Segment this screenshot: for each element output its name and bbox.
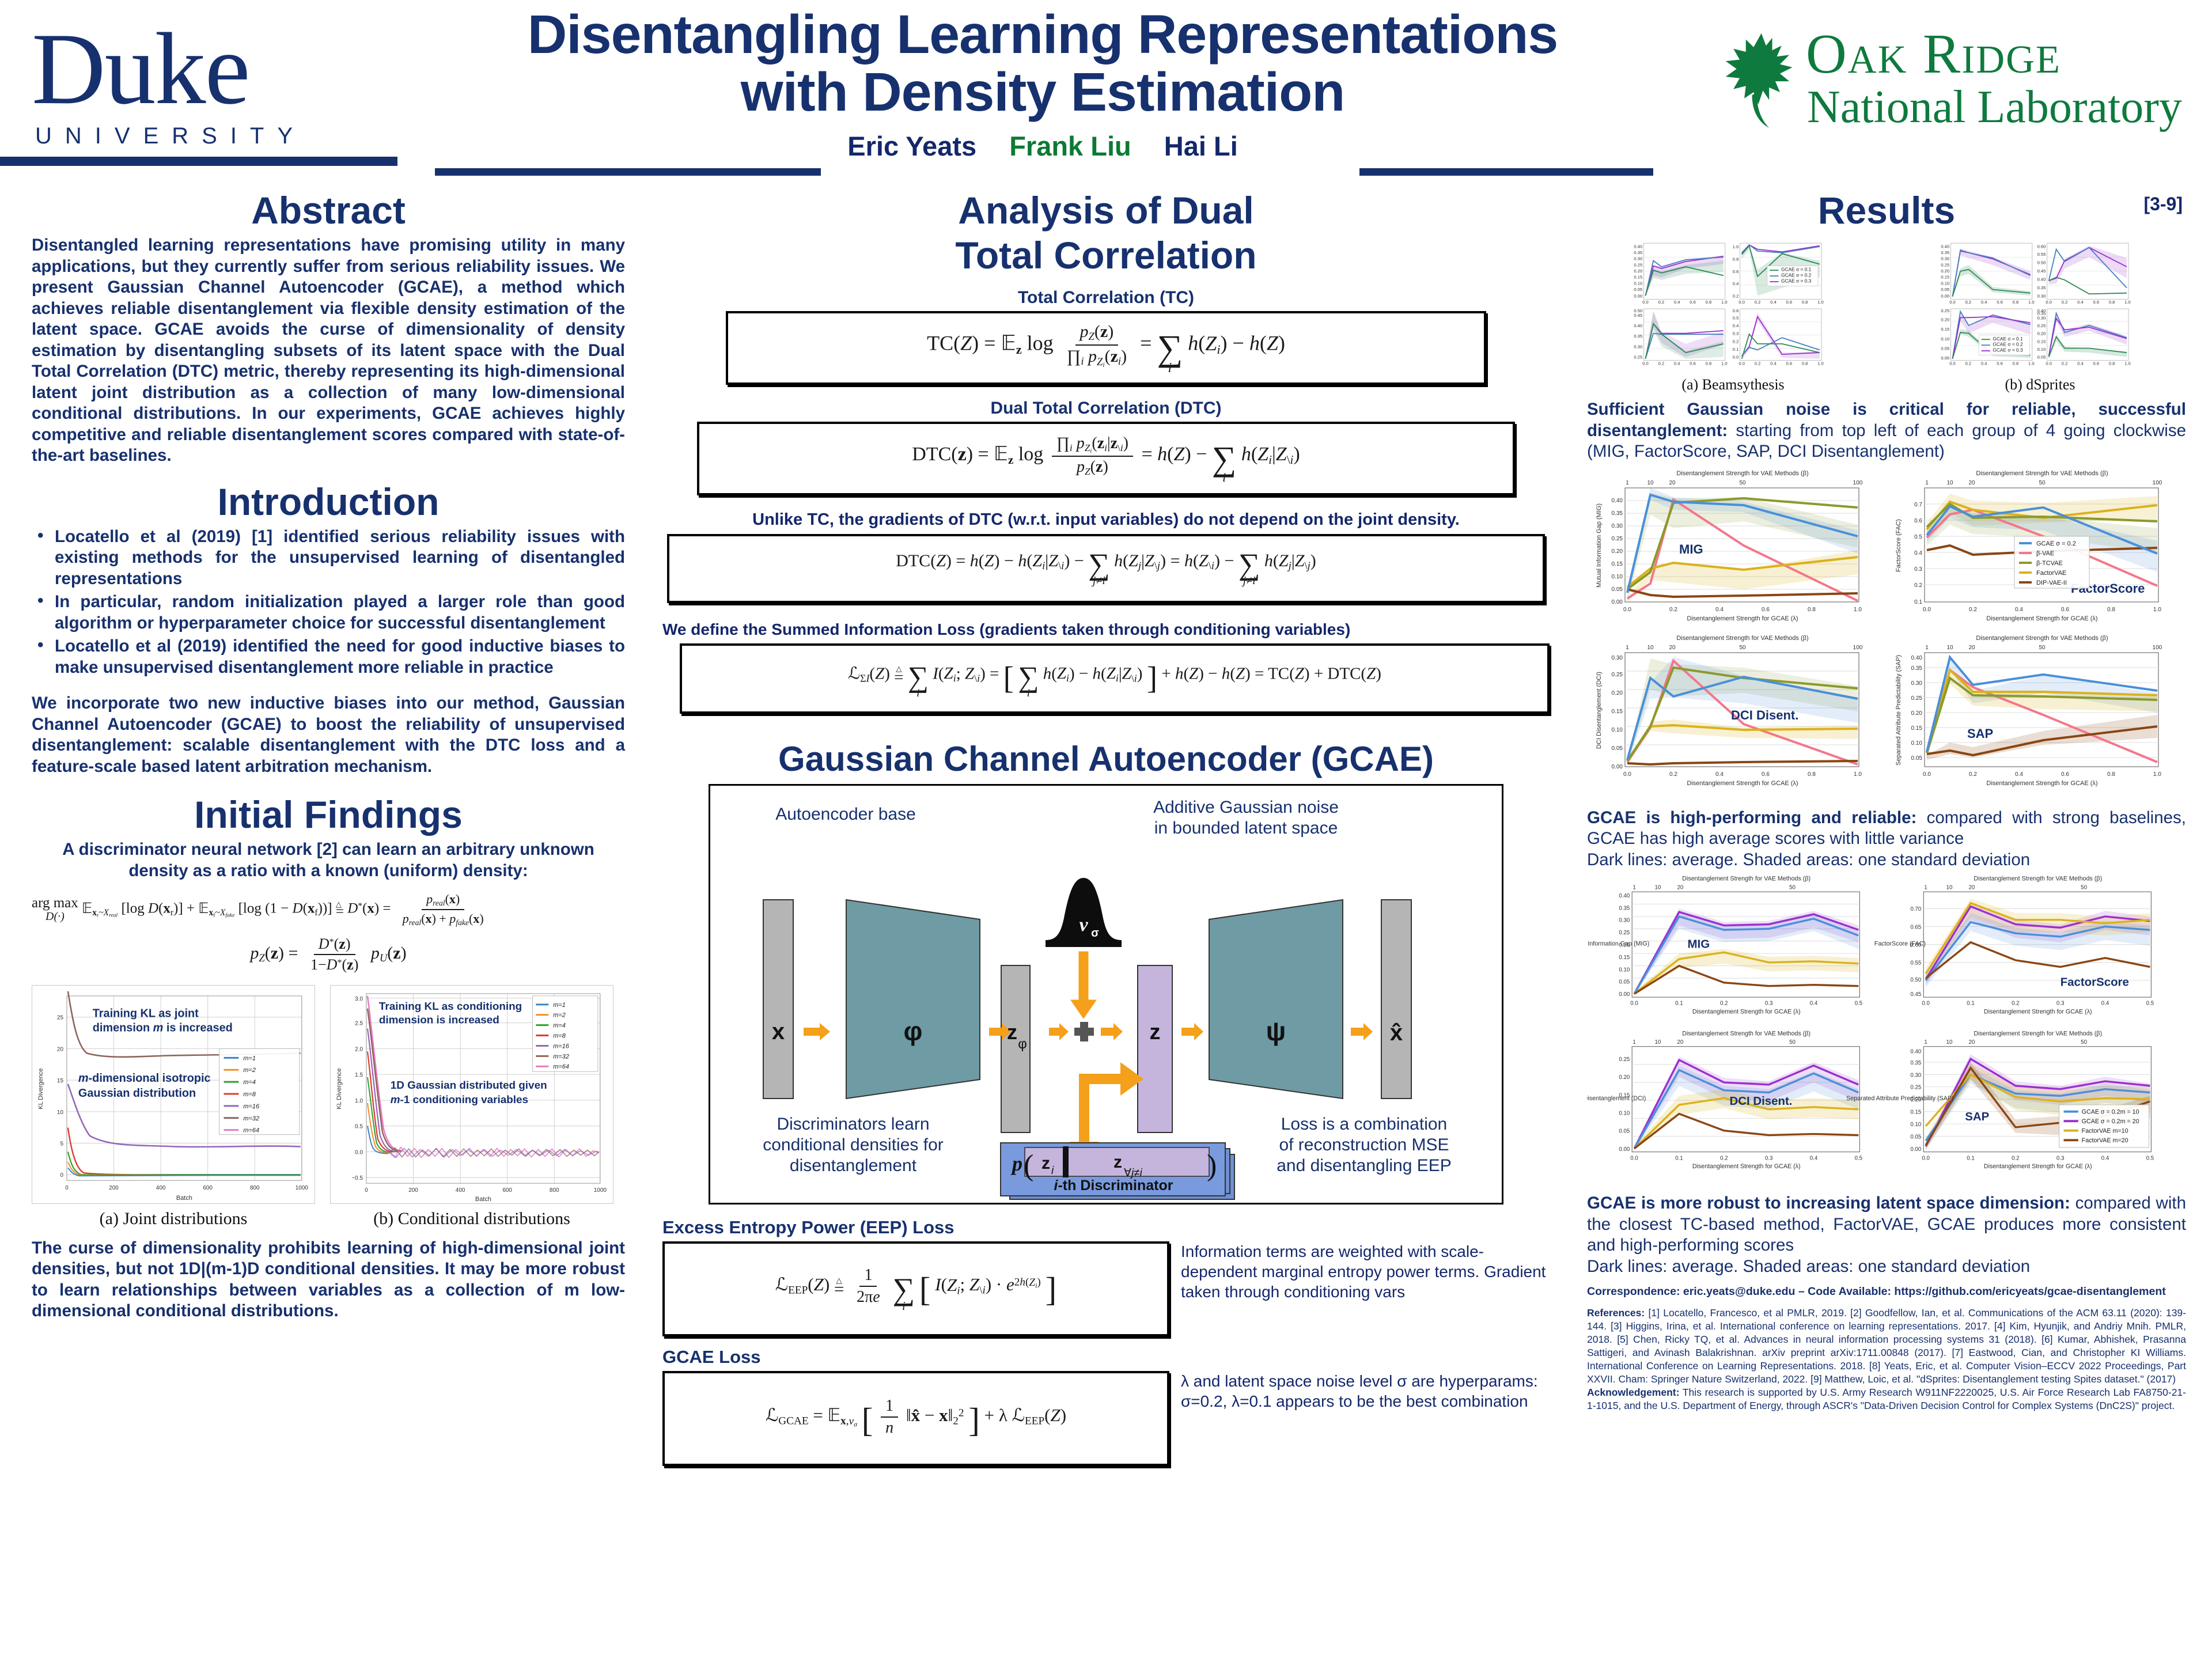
- svg-text:0.8: 0.8: [1808, 607, 1816, 613]
- svg-text:0.25: 0.25: [1941, 262, 1949, 267]
- svg-text:0.8: 0.8: [1808, 771, 1816, 778]
- svg-text:1: 1: [1626, 480, 1629, 486]
- correspondence-line[interactable]: Correspondence: eric.yeats@duke.edu – Co…: [1587, 1285, 2186, 1298]
- svg-text:0.35: 0.35: [1619, 905, 1630, 911]
- svg-text:0.40: 0.40: [1634, 244, 1642, 249]
- svg-text:600: 600: [203, 1185, 213, 1191]
- svg-text:0.6: 0.6: [1786, 361, 1792, 366]
- intro-bullet-2: In particular, random initialization pla…: [32, 592, 625, 634]
- gcae-loss-equation-box: ℒGCAE = 𝔼x,νσ [ 1n ‖x̂ − x‖22 ] + λ ℒEEP…: [662, 1371, 1169, 1466]
- ornl-title-line2: National Laboratory: [1807, 82, 2182, 132]
- svg-text:0.6: 0.6: [1690, 361, 1696, 366]
- svg-text:0.4: 0.4: [1770, 300, 1777, 305]
- svg-text:0.6: 0.6: [1733, 308, 1739, 313]
- svg-text:20: 20: [57, 1046, 64, 1052]
- svg-text:0.0: 0.0: [1923, 607, 1931, 613]
- results-note-1: Sufficient Gaussian noise is critical fo…: [1587, 399, 2186, 463]
- svg-text:50: 50: [2039, 480, 2046, 486]
- svg-text:0.7: 0.7: [1914, 502, 1922, 508]
- svg-text:0.1: 0.1: [1675, 1155, 1683, 1161]
- svg-text:800: 800: [550, 1187, 559, 1194]
- svg-text:m=64: m=64: [243, 1127, 259, 1134]
- kl-joint-figure: 0510 152025 0200400 6008001000 Batch KL …: [32, 985, 315, 1229]
- loss-note-right: Loss is a combination of reconstruction …: [1234, 1114, 1494, 1176]
- svg-text:0.3: 0.3: [1914, 566, 1922, 573]
- abstract-heading: Abstract: [32, 190, 625, 230]
- svg-text:0.25: 0.25: [1634, 262, 1642, 267]
- svg-text:0.4: 0.4: [1914, 550, 1922, 556]
- svg-text:0.10: 0.10: [2037, 347, 2046, 352]
- beamsynthesis-plot-grid: 0.000.050.10 0.150.200.25 0.300.350.40 0…: [1587, 240, 1879, 371]
- svg-text:0.05: 0.05: [1634, 287, 1642, 292]
- svg-text:0.2: 0.2: [1733, 293, 1739, 298]
- svg-text:z: z: [1113, 1153, 1122, 1172]
- svg-text:Training KL as conditioning: Training KL as conditioning: [379, 1000, 522, 1012]
- svg-text:Disentanglement Strength for V: Disentanglement Strength for VAE Methods…: [1676, 470, 1808, 477]
- latentdim-legend: GCAE σ = 0.2m = 10GCAE σ = 0.2m = 20 Fac…: [2059, 1105, 2149, 1147]
- dci-plot-tag: DCI Disent.: [1731, 708, 1798, 722]
- svg-text:0.40: 0.40: [1910, 1048, 1922, 1055]
- svg-text:m=16: m=16: [243, 1103, 260, 1109]
- svg-text:0.8: 0.8: [2107, 607, 2115, 613]
- svg-text:0.00: 0.00: [1941, 355, 1949, 361]
- svg-text:Gaussian distribution: Gaussian distribution: [78, 1087, 196, 1100]
- svg-text:0.0: 0.0: [1623, 771, 1631, 778]
- beamsynthesis-figure: 0.000.050.10 0.150.200.25 0.300.350.40 0…: [1587, 240, 1879, 393]
- kl-joint-legend: m=1m=2m=4 m=8m=16m=32 m=64: [219, 1048, 300, 1134]
- sigma-legend-dsprites: GCAE σ = 0.1GCAE σ = 0.2GCAE σ = 0.3: [1979, 335, 2029, 355]
- svg-text:ν: ν: [1079, 914, 1088, 935]
- svg-text:2.0: 2.0: [355, 1046, 363, 1052]
- svg-text:0.3: 0.3: [1765, 1155, 1773, 1161]
- initial-findings-closing: The curse of dimensionality prohibits le…: [32, 1238, 625, 1322]
- mig-plot-tag: MIG: [1679, 542, 1703, 556]
- svg-text:0.10: 0.10: [1941, 281, 1949, 286]
- dtc-gradient-equation-box: DTC(Z) = h(Z) − h(Zi|Z\i) − ∑j≠i h(Zj|Z\…: [667, 534, 1545, 603]
- svg-text:GCAE σ = 0.2: GCAE σ = 0.2: [1993, 342, 2023, 347]
- svg-text:0.4: 0.4: [2077, 300, 2084, 305]
- svg-text:0.8: 0.8: [1802, 300, 1808, 305]
- svg-text:GCAE σ = 0.2: GCAE σ = 0.2: [1781, 272, 1812, 278]
- svg-text:0.2: 0.2: [1755, 361, 1761, 366]
- title-block: Disentangling Learning Representations w…: [438, 6, 1647, 162]
- dsprites-figure: 0.000.050.10 0.150.200.25 0.300.350.40 0…: [1894, 240, 2186, 393]
- svg-text:0.6: 0.6: [1997, 300, 2003, 305]
- acknowledgement-block: Acknowledgement: This research is suppor…: [1587, 1386, 2186, 1412]
- svg-text:0.1: 0.1: [1914, 599, 1922, 605]
- beamsynthesis-caption: (a) Beamsythesis: [1587, 376, 1879, 393]
- svg-text:50: 50: [1789, 1039, 1796, 1046]
- svg-text:0.6: 0.6: [2093, 361, 2099, 366]
- svg-text:0.45: 0.45: [1910, 991, 1921, 998]
- svg-text:600: 600: [502, 1187, 512, 1194]
- decoder-block: [1209, 900, 1343, 1099]
- svg-text:0.00: 0.00: [1612, 599, 1623, 605]
- svg-text:0.00: 0.00: [1941, 293, 1949, 298]
- eep-equation-box: ℒEEP(Z) △ = 12πe ∑i [ I(Zi; Z\i) · e2h(Z…: [662, 1241, 1169, 1336]
- svg-text:20: 20: [1677, 1039, 1683, 1046]
- svg-text:0.8: 0.8: [2013, 300, 2019, 305]
- svg-text:1.0: 1.0: [1854, 607, 1862, 613]
- baseline-sap-ylabel: Separated Attribute Predictability (SAP): [1895, 655, 1902, 766]
- svg-text:0.05: 0.05: [1941, 287, 1949, 292]
- introduction-heading: Introduction: [32, 482, 625, 522]
- svg-text:0.0: 0.0: [1922, 1155, 1930, 1161]
- svg-text:m=16: m=16: [553, 1043, 570, 1050]
- svg-text:0.2: 0.2: [1733, 339, 1739, 344]
- svg-text:1.0: 1.0: [2028, 361, 2035, 366]
- svg-text:0.3: 0.3: [1733, 331, 1739, 336]
- header-rule-left: [0, 157, 397, 166]
- svg-text:σ: σ: [1091, 927, 1099, 940]
- svg-text:m-1 conditioning variables: m-1 conditioning variables: [391, 1094, 528, 1106]
- svg-text:0.0: 0.0: [1949, 300, 1956, 305]
- svg-text:φ: φ: [1018, 1036, 1027, 1052]
- baseline-factorscore-panel: Disentanglement Strength for VAE Methods…: [1895, 470, 2162, 622]
- svg-text:Training KL as joint: Training KL as joint: [93, 1007, 199, 1020]
- gcae-loss-equation: ℒGCAE = 𝔼x,νσ [ 1n ‖x̂ − x‖22 ] + λ ℒEEP…: [766, 1397, 1066, 1440]
- svg-text:1.0: 1.0: [2153, 771, 2161, 778]
- svg-text:0.4: 0.4: [1674, 361, 1680, 366]
- svg-text:0.8: 0.8: [1706, 300, 1712, 305]
- tc-equation: TC(Z) = 𝔼z log pZ(z) ∏i pZi(zi) = ∑i h(Z…: [927, 322, 1285, 374]
- svg-text:0.45: 0.45: [2037, 268, 2046, 274]
- svg-text:0.65: 0.65: [1910, 924, 1921, 930]
- svg-text:Disentanglement Strength for V: Disentanglement Strength for VAE Methods…: [1976, 470, 2108, 477]
- svg-text:10: 10: [57, 1109, 64, 1115]
- dtc-caption: Dual Total Correlation (DTC): [662, 399, 1550, 418]
- svg-text:0.0: 0.0: [355, 1149, 363, 1156]
- svg-text:Mutual Information Gap (MIG): Mutual Information Gap (MIG): [1587, 941, 1649, 948]
- svg-text:0.20: 0.20: [1619, 1074, 1630, 1081]
- svg-text:0.4: 0.4: [1810, 1155, 1818, 1161]
- svg-text:0.05: 0.05: [2037, 355, 2046, 360]
- svg-text:1000: 1000: [594, 1187, 607, 1194]
- z-block: [1138, 965, 1172, 1132]
- svg-text:0.2: 0.2: [2012, 1001, 2020, 1007]
- svg-text:0.10: 0.10: [1941, 336, 1949, 342]
- svg-text:0.2: 0.2: [1720, 1001, 1728, 1007]
- svg-text:0.40: 0.40: [1619, 893, 1630, 899]
- svg-text:0.10: 0.10: [1634, 281, 1642, 286]
- svg-text:0.05: 0.05: [1911, 755, 1923, 762]
- svg-text:10: 10: [1946, 884, 1953, 891]
- title-line-2: with Density Estimation: [438, 63, 1647, 121]
- svg-text:1: 1: [1924, 884, 1927, 891]
- svg-text:0.6: 0.6: [1997, 361, 2003, 366]
- svg-text:0.0: 0.0: [1642, 300, 1649, 305]
- middle-column: Analysis of Dual Total Correlation Total…: [662, 190, 1550, 1466]
- svg-text:0.0: 0.0: [1923, 771, 1931, 778]
- encoder-block: [846, 900, 980, 1099]
- svg-text:0.10: 0.10: [1612, 574, 1623, 580]
- svg-text:0.20: 0.20: [1941, 317, 1949, 322]
- svg-text:0.0: 0.0: [1642, 361, 1649, 366]
- svg-text:20: 20: [1968, 480, 1975, 486]
- svg-text:20: 20: [1968, 645, 1975, 651]
- oak-ridge-national-laboratory-logo: Oak Ridge National Laboratory: [1719, 26, 2198, 135]
- svg-text:Disentanglement Strength for G: Disentanglement Strength for GCAE (λ): [1692, 1163, 1801, 1170]
- svg-text:Disentanglement Strength for G: Disentanglement Strength for GCAE (λ): [1692, 1008, 1801, 1015]
- svg-text:0.0: 0.0: [1630, 1001, 1638, 1007]
- svg-text:φ: φ: [904, 1016, 923, 1046]
- svg-text:0: 0: [365, 1187, 368, 1194]
- initial-findings-heading: Initial Findings: [32, 794, 625, 835]
- svg-text:1: 1: [1626, 645, 1629, 651]
- svg-text:50: 50: [1789, 884, 1796, 891]
- svg-text:0.10: 0.10: [1911, 740, 1923, 747]
- svg-text:0.05: 0.05: [1910, 1134, 1921, 1140]
- gcae-architecture-diagram: Autoencoder base Additive Gaussian noise…: [709, 784, 1503, 1205]
- svg-text:0.25: 0.25: [1911, 695, 1923, 702]
- svg-text:0.35: 0.35: [1941, 250, 1949, 255]
- svg-text:GCAE σ = 0.2m = 20: GCAE σ = 0.2m = 20: [2082, 1118, 2139, 1125]
- svg-text:Disentanglement Strength for V: Disentanglement Strength for VAE Methods…: [1974, 876, 2102, 882]
- svg-text:1.0: 1.0: [1721, 361, 1728, 366]
- svg-text:0.25: 0.25: [1612, 672, 1623, 678]
- introduction-bullets: Locatello et al (2019) [1] identified se…: [32, 527, 625, 679]
- svg-text:m=4: m=4: [243, 1079, 256, 1086]
- gaussian-bell-icon: [1046, 878, 1122, 947]
- author-rule-right: [1359, 168, 1653, 176]
- baseline-dci-ylabel: DCI Disentanglement (DCI): [1596, 672, 1603, 749]
- svg-text:): ): [1207, 1149, 1217, 1182]
- svg-text:20: 20: [1969, 884, 1975, 891]
- svg-text:1: 1: [1633, 1039, 1635, 1046]
- baseline-dci-xlabel: Disentanglement Strength for GCAE (λ): [1687, 780, 1798, 787]
- analysis-heading-line2: Total Correlation: [662, 235, 1550, 275]
- svg-text:0.4: 0.4: [1770, 361, 1777, 366]
- svg-text:DCI Disentanglement (DCI): DCI Disentanglement (DCI): [1587, 1095, 1646, 1102]
- svg-text:dimension is increased: dimension is increased: [379, 1014, 499, 1026]
- baseline-legend: GCAE σ = 0.2β-VAE β-TCVAEFactorVAEDIP-VA…: [2014, 536, 2089, 588]
- dtc-gradient-equation: DTC(Z) = h(Z) − h(Zi|Z\i) − ∑j≠i h(Zj|Z\…: [896, 551, 1316, 586]
- svg-text:0.40: 0.40: [1941, 244, 1949, 249]
- svg-text:0.30: 0.30: [1634, 344, 1642, 349]
- svg-text:0.35: 0.35: [1911, 665, 1923, 672]
- svg-text:GCAE σ = 0.3: GCAE σ = 0.3: [1781, 278, 1812, 283]
- svg-text:0.8: 0.8: [2013, 361, 2019, 366]
- svg-text:200: 200: [109, 1185, 119, 1191]
- results-note-2-bold: GCAE is high-performing and reliable:: [1587, 808, 1916, 827]
- svg-text:m=1: m=1: [553, 1001, 566, 1008]
- svg-text:0.15: 0.15: [1910, 1109, 1921, 1116]
- svg-text:0.30: 0.30: [2037, 293, 2046, 298]
- svg-text:0.25: 0.25: [1910, 1085, 1921, 1091]
- svg-text:Disentanglement Strength for G: Disentanglement Strength for GCAE (λ): [1984, 1163, 2092, 1170]
- svg-text:0.40: 0.40: [1612, 498, 1623, 504]
- results-reference-tag: [3-9]: [2143, 194, 2183, 215]
- gcae-loss-label: GCAE Loss: [662, 1347, 1550, 1368]
- sum-operator: [1074, 1022, 1094, 1041]
- svg-text:0.0: 0.0: [2046, 300, 2052, 305]
- references-block: References: [1] Locatello, Francesco, et…: [1587, 1306, 2186, 1386]
- svg-text:0.15: 0.15: [1612, 709, 1623, 715]
- svg-text:0.0: 0.0: [1922, 1001, 1930, 1007]
- svg-text:5: 5: [60, 1141, 63, 1147]
- svg-text:0.8: 0.8: [1802, 361, 1808, 366]
- svg-text:25: 25: [57, 1014, 64, 1021]
- svg-text:Separated Attribute Predictabi: Separated Attribute Predictability (SAP): [1846, 1095, 1954, 1102]
- svg-text:1.0: 1.0: [2124, 361, 2131, 366]
- svg-text:0.4: 0.4: [1733, 323, 1739, 328]
- results-note-3-bold: GCAE is more robust to increasing latent…: [1587, 1194, 2070, 1213]
- svg-text:m=8: m=8: [553, 1032, 566, 1039]
- svg-text:0.35: 0.35: [1612, 510, 1623, 517]
- baseline-mig-ylabel: Mutual Information Gap (MIG): [1596, 503, 1603, 587]
- svg-text:0.4: 0.4: [1981, 361, 1987, 366]
- svg-text:0.1: 0.1: [1967, 1155, 1975, 1161]
- svg-text:0.15: 0.15: [1941, 275, 1949, 280]
- kl-joint-plot: 0510 152025 0200400 6008001000 Batch KL …: [32, 985, 315, 1204]
- svg-text:0.20: 0.20: [1612, 548, 1623, 555]
- svg-text:0.00: 0.00: [1612, 764, 1623, 770]
- svg-text:100: 100: [1853, 645, 1863, 651]
- svg-text:200: 200: [408, 1187, 418, 1194]
- kl-figure-row: 0510 152025 0200400 6008001000 Batch KL …: [32, 985, 625, 1229]
- svg-text:0.25: 0.25: [1612, 536, 1623, 542]
- baseline-fac-xlabel: Disentanglement Strength for GCAE (λ): [1986, 615, 2097, 622]
- svg-text:Disentanglement Strength for V: Disentanglement Strength for VAE Methods…: [1974, 1030, 2102, 1037]
- svg-text:m=64: m=64: [553, 1063, 569, 1070]
- svg-text:0.4: 0.4: [1715, 607, 1724, 613]
- svg-text:50: 50: [2081, 884, 2087, 891]
- svg-text:0.25: 0.25: [2037, 323, 2046, 328]
- sap-plot-tag: SAP: [1967, 726, 1993, 741]
- svg-text:0.6: 0.6: [1762, 607, 1770, 613]
- svg-text:0.6: 0.6: [1786, 300, 1792, 305]
- svg-text:0.2: 0.2: [1720, 1155, 1728, 1161]
- svg-text:m=4: m=4: [553, 1022, 566, 1029]
- svg-text:z: z: [1041, 1154, 1050, 1173]
- svg-text:0.1: 0.1: [1733, 347, 1739, 352]
- svg-text:FactorScore (FAC): FactorScore (FAC): [1874, 941, 1926, 948]
- svg-text:0.05: 0.05: [1619, 1128, 1630, 1135]
- svg-text:Disentanglement Strength for G: Disentanglement Strength for GCAE (λ): [1984, 1008, 2092, 1015]
- gcae-loss-row: ℒGCAE = 𝔼x,νσ [ 1n ‖x̂ − x‖22 ] + λ ℒEEP…: [662, 1371, 1550, 1466]
- eep-equation: ℒEEP(Z) △ = 12πe ∑i [ I(Zi; Z\i) · e2h(Z…: [775, 1266, 1056, 1311]
- sigma-sweep-figure-group: 0.000.050.10 0.150.200.25 0.300.350.40 0…: [1587, 240, 2186, 393]
- kl-conditional-caption: (b) Conditional distributions: [330, 1209, 613, 1229]
- svg-text:0.2: 0.2: [1658, 300, 1665, 305]
- baseline-sap-panel: Disentanglement Strength for VAE Methods…: [1895, 635, 2162, 787]
- sigma-legend-beam: GCAE σ = 0.1GCAE σ = 0.2GCAE σ = 0.3: [1767, 266, 1818, 286]
- summed-info-loss-equation-box: ℒΣI(Z) △ = ∑i I(Zi; Z\i) = [ ∑i h(Zi) − …: [680, 643, 1550, 714]
- svg-text:FactorVAE m=20: FactorVAE m=20: [2082, 1137, 2128, 1144]
- svg-text:p: p: [1010, 1152, 1022, 1175]
- svg-text:0.25: 0.25: [1634, 355, 1642, 360]
- svg-text:0.8: 0.8: [2109, 300, 2115, 305]
- svg-text:0.15: 0.15: [1612, 561, 1623, 567]
- tc-caption: Total Correlation (TC): [662, 288, 1550, 308]
- svg-text:0.4: 0.4: [1810, 1001, 1818, 1007]
- author-list: Eric Yeats Frank Liu Hai Li: [438, 130, 1647, 162]
- dsprites-caption: (b) dSprites: [1894, 376, 2186, 393]
- svg-text:0.35: 0.35: [1634, 334, 1642, 339]
- svg-text:0.4: 0.4: [1733, 281, 1739, 286]
- svg-text:0.2: 0.2: [1914, 582, 1922, 589]
- kl-joint-caption: (a) Joint distributions: [32, 1209, 315, 1229]
- svg-text:0.2: 0.2: [1658, 361, 1665, 366]
- svg-text:1.5: 1.5: [355, 1072, 363, 1078]
- baseline-mig-panel: Disentanglement Strength for VAE Methods…: [1596, 470, 1863, 622]
- svg-text:m=8: m=8: [243, 1091, 256, 1098]
- svg-text:0.4: 0.4: [2015, 771, 2023, 778]
- svg-text:0.8: 0.8: [2109, 361, 2115, 366]
- svg-text:0.6: 0.6: [2061, 771, 2069, 778]
- svg-text:0.2: 0.2: [1965, 300, 1972, 305]
- author-1: Eric Yeats: [847, 131, 976, 161]
- introduction-paragraph: We incorporate two new inductive biases …: [32, 693, 625, 777]
- analysis-heading-line1: Analysis of Dual: [662, 190, 1550, 230]
- svg-text:1.0: 1.0: [2028, 300, 2035, 305]
- initial-findings-lead: A discriminator neural network [2] can l…: [32, 839, 625, 881]
- svg-text:0.35: 0.35: [2037, 285, 2046, 290]
- svg-text:1.0: 1.0: [1854, 771, 1862, 778]
- svg-text:m=1: m=1: [243, 1055, 256, 1062]
- svg-text:0.1: 0.1: [1967, 1001, 1975, 1007]
- results-note-2: GCAE is high-performing and reliable: co…: [1587, 808, 2186, 850]
- svg-text:0.05: 0.05: [1941, 346, 1949, 351]
- svg-text:0.00: 0.00: [1619, 991, 1630, 998]
- gcae-loss-note: λ and latent space noise level σ are hyp…: [1181, 1371, 1550, 1466]
- svg-text:0.6: 0.6: [2061, 607, 2069, 613]
- oak-leaf-icon: [1719, 32, 1800, 132]
- svg-text:0.5: 0.5: [2146, 1001, 2154, 1007]
- svg-text:0.30: 0.30: [1612, 523, 1623, 529]
- svg-text:0.0: 0.0: [1623, 607, 1631, 613]
- svg-text:0.5: 0.5: [1733, 315, 1739, 320]
- svg-text:0.55: 0.55: [1910, 960, 1921, 967]
- svg-text:0.2: 0.2: [2062, 361, 2068, 366]
- svg-text:SAP: SAP: [1965, 1111, 1989, 1123]
- svg-text:0.40: 0.40: [2037, 308, 2046, 313]
- svg-text:1: 1: [1925, 645, 1929, 651]
- svg-text:0.5: 0.5: [355, 1123, 363, 1130]
- svg-text:0.30: 0.30: [1619, 918, 1630, 924]
- svg-text:z: z: [1007, 1020, 1017, 1044]
- svg-text:0.00: 0.00: [1910, 1146, 1922, 1153]
- svg-text:0.20: 0.20: [1612, 690, 1623, 696]
- svg-text:0.00: 0.00: [1619, 1146, 1630, 1153]
- svg-text:0.2: 0.2: [1755, 300, 1761, 305]
- svg-text:50: 50: [1739, 645, 1746, 651]
- svg-text:50: 50: [2081, 1039, 2087, 1046]
- svg-text:0.30: 0.30: [1941, 256, 1949, 262]
- svg-text:1000: 1000: [296, 1185, 309, 1191]
- svg-text:GCAE σ = 0.1: GCAE σ = 0.1: [1781, 267, 1812, 272]
- svg-text:20: 20: [1969, 1039, 1975, 1046]
- baseline-sap-xlabel: Disentanglement Strength for GCAE (λ): [1986, 780, 2097, 787]
- svg-text:0.10: 0.10: [1612, 727, 1623, 733]
- dsprites-plot-grid: 0.000.050.10 0.150.200.25 0.300.350.40 0…: [1894, 240, 2186, 371]
- svg-text:10: 10: [1946, 480, 1953, 486]
- svg-text:i-th Discriminator: i-th Discriminator: [1054, 1177, 1173, 1194]
- kl-conditional-figure: −0.50.00.5 1.01.52.0 2.53.0 0200400 6008…: [330, 985, 613, 1229]
- kl-joint-xlabel: Batch: [176, 1195, 192, 1202]
- svg-text:0.5: 0.5: [1914, 534, 1922, 540]
- svg-text:0.2: 0.2: [1965, 361, 1972, 366]
- svg-text:0.30: 0.30: [1911, 680, 1923, 687]
- svg-text:0.20: 0.20: [1941, 268, 1949, 274]
- svg-text:1: 1: [1633, 884, 1635, 891]
- disc-right-line3: and disentangling EEP: [1234, 1156, 1494, 1176]
- svg-text:400: 400: [156, 1185, 166, 1191]
- svg-text:100: 100: [1853, 480, 1863, 486]
- baseline-mig-xlabel: Disentanglement Strength for GCAE (λ): [1687, 615, 1798, 622]
- duke-university-subtitle: UNIVERSITY: [35, 123, 400, 149]
- svg-text:0.25: 0.25: [1941, 308, 1949, 313]
